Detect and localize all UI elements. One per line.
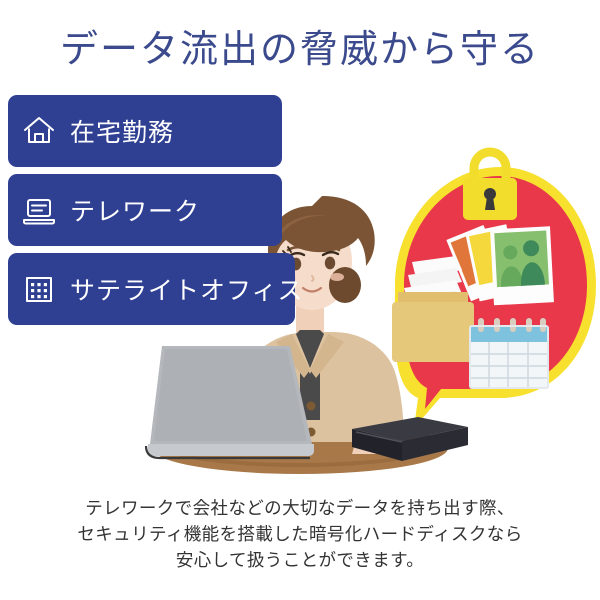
laptop	[146, 346, 314, 458]
external-hard-drive	[352, 417, 468, 461]
caption-line-2: セキュリティ機能を搭載した暗号化ハードディスクなら	[0, 521, 600, 547]
desk	[152, 422, 448, 474]
button-label: テレワーク	[70, 192, 200, 228]
page-title: データ流出の脅威から守る	[0, 18, 600, 73]
padlock-icon	[463, 152, 517, 220]
photo-stack	[446, 224, 554, 305]
speech-bubble	[395, 167, 596, 428]
calendar-icon	[470, 318, 548, 388]
caption-line-1: テレワークで会社などの大切なデータを持ち出す際、	[0, 495, 600, 521]
house-icon	[22, 114, 56, 148]
button-telework[interactable]: テレワーク	[8, 174, 282, 246]
papers	[400, 256, 462, 316]
document-folder	[392, 256, 474, 362]
building-icon	[22, 272, 56, 306]
caption-line-3: 安心して扱うことができます。	[0, 547, 600, 573]
promo-banner: データ流出の脅威から守る	[0, 0, 600, 600]
caption: テレワークで会社などの大切なデータを持ち出す際、 セキュリティ機能を搭載した暗号…	[0, 495, 600, 573]
button-label: 在宅勤務	[70, 113, 174, 149]
button-home-work[interactable]: 在宅勤務	[8, 95, 282, 167]
button-satellite-office[interactable]: サテライトオフィス	[8, 253, 295, 325]
laptop-icon	[22, 193, 56, 227]
button-label: サテライトオフィス	[70, 271, 304, 307]
